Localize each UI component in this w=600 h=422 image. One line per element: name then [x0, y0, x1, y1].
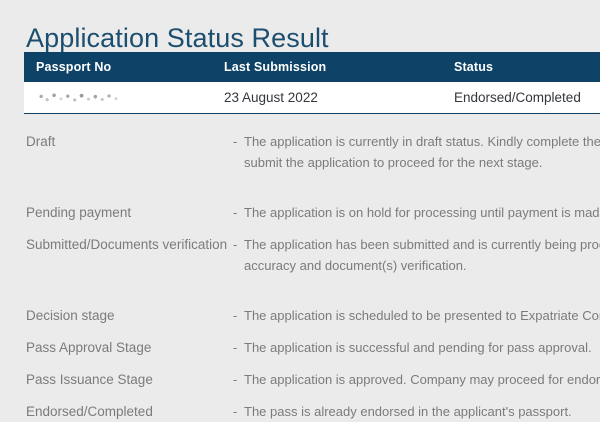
- legend-description-line-1: The application is currently in draft st…: [244, 134, 600, 149]
- legend-item-submitted-documents-verification: Submitted/Documents verification - The a…: [0, 234, 600, 276]
- legend-label: Pass Issuance Stage: [0, 369, 233, 390]
- legend-label: Submitted/Documents verification: [0, 234, 233, 255]
- legend-dash: -: [233, 337, 244, 358]
- legend-item-draft: Draft - The application is currently in …: [0, 131, 600, 173]
- legend-spacer: [0, 223, 600, 234]
- legend-description: The application is currently in draft st…: [244, 131, 600, 173]
- legend-description-line-1: The application is approved. Company may…: [244, 372, 600, 387]
- legend-item-decision-stage: Decision stage - The application is sche…: [0, 305, 600, 326]
- legend-item-pass-issuance-stage: Pass Issuance Stage - The application is…: [0, 369, 600, 390]
- legend-description: The application is approved. Company may…: [244, 369, 600, 390]
- redacted-passport-number: [36, 92, 122, 103]
- application-status-table: Passport No Last Submission Status 23 Au…: [24, 52, 600, 114]
- cell-last-submission: 23 August 2022: [224, 82, 454, 114]
- column-header-passport-no: Passport No: [24, 52, 224, 82]
- legend-description-line-1: The application is successful and pendin…: [244, 340, 592, 355]
- legend-item-pass-approval-stage: Pass Approval Stage - The application is…: [0, 337, 600, 358]
- table-header-row: Passport No Last Submission Status: [24, 52, 600, 82]
- table-row: 23 August 2022 Endorsed/Completed: [24, 82, 600, 114]
- legend-label: Pass Approval Stage: [0, 337, 233, 358]
- legend-spacer: [0, 276, 600, 305]
- legend-description-line-1: The pass is already endorsed in the appl…: [244, 404, 572, 419]
- legend-spacer: [0, 358, 600, 369]
- page-title: Application Status Result: [26, 20, 329, 56]
- legend-description-line-1: The application is on hold for processin…: [244, 205, 600, 220]
- legend-dash: -: [233, 369, 244, 390]
- legend-dash: -: [233, 305, 244, 326]
- legend-description: The application is scheduled to be prese…: [244, 305, 600, 326]
- table-header: Passport No Last Submission Status: [24, 52, 600, 82]
- legend-description: The application is successful and pendin…: [244, 337, 600, 358]
- legend-label: Decision stage: [0, 305, 233, 326]
- legend-dash: -: [233, 401, 244, 422]
- legend-description: The application has been submitted and i…: [244, 234, 600, 276]
- column-header-last-submission: Last Submission: [224, 52, 454, 82]
- legend-spacer: [0, 326, 600, 337]
- legend-item-pending-payment: Pending payment - The application is on …: [0, 202, 600, 223]
- table-body: 23 August 2022 Endorsed/Completed: [24, 82, 600, 114]
- legend-description-line-1: The application has been submitted and i…: [244, 237, 600, 252]
- legend-description-line-2: accuracy and document(s) verification.: [244, 255, 600, 276]
- legend-dash: -: [233, 131, 244, 152]
- cell-status: Endorsed/Completed: [454, 82, 600, 114]
- status-legend: Draft - The application is currently in …: [0, 131, 600, 422]
- legend-spacer: [0, 173, 600, 202]
- legend-item-endorsed-completed: Endorsed/Completed - The pass is already…: [0, 401, 600, 422]
- legend-description: The pass is already endorsed in the appl…: [244, 401, 600, 422]
- legend-dash: -: [233, 202, 244, 223]
- legend-description-line-1: The application is scheduled to be prese…: [244, 308, 600, 323]
- legend-label: Draft: [0, 131, 233, 152]
- legend-label: Pending payment: [0, 202, 233, 223]
- legend-spacer: [0, 390, 600, 401]
- legend-label: Endorsed/Completed: [0, 401, 233, 422]
- legend-description-line-2: submit the application to proceed for th…: [244, 152, 600, 173]
- legend-description: The application is on hold for processin…: [244, 202, 600, 223]
- legend-dash: -: [233, 234, 244, 255]
- column-header-status: Status: [454, 52, 600, 82]
- cell-passport-no: [24, 82, 224, 114]
